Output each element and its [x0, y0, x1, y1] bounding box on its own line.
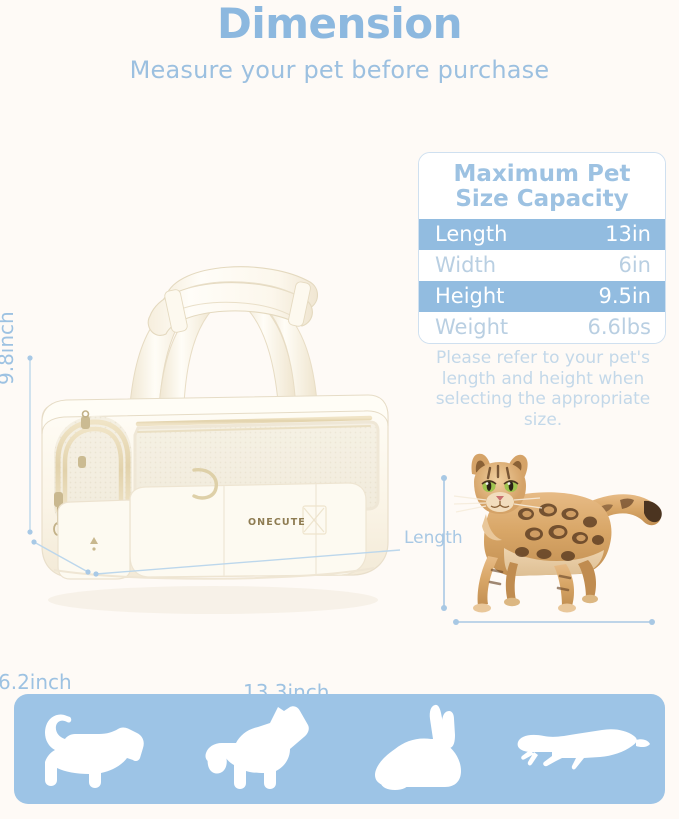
lizard-silhouette-icon	[514, 714, 654, 784]
bengal-cat-image	[430, 440, 670, 625]
table-row-width: Width 6in	[419, 250, 665, 281]
spec-title-line-1: Maximum Pet	[425, 162, 659, 187]
spec-title-line-2: Size Capacity	[425, 187, 659, 212]
main-stage: ONECUTE 9.8inch 6.2inch 13.3inch Maximum…	[0, 110, 679, 685]
page-subtitle: Measure your pet before purchase	[0, 56, 679, 84]
table-row-height: Height 9.5in	[419, 281, 665, 312]
bag-brand-label: ONECUTE	[248, 517, 306, 528]
row-label: Height	[435, 284, 504, 308]
pet-carrier-bag-image: ONECUTE	[18, 170, 408, 640]
row-label: Length	[435, 222, 507, 246]
bag-depth-dimension-label: 6.2inch	[0, 670, 72, 694]
supported-pets-banner	[14, 694, 665, 804]
animal-slot-lizard	[509, 714, 659, 784]
cat-silhouette-icon	[29, 706, 161, 792]
max-pet-size-capacity-table: Maximum Pet Size Capacity Length 13in Wi…	[418, 152, 666, 344]
cat-length-label: Length	[404, 528, 463, 548]
bag-height-dimension-label: 9.8inch	[0, 311, 18, 385]
spec-table-title: Maximum Pet Size Capacity	[419, 153, 665, 219]
row-label: Weight	[435, 315, 508, 339]
row-value: 9.5in	[598, 284, 651, 308]
rabbit-silhouette-icon	[361, 703, 481, 795]
header: Dimension Measure your pet before purcha…	[0, 0, 679, 84]
row-value: 13in	[605, 222, 651, 246]
animal-slot-rabbit	[346, 703, 496, 795]
animal-slot-dog	[183, 703, 333, 795]
page-title: Dimension	[0, 2, 679, 46]
zipper-pull-door	[78, 456, 86, 468]
spec-table-note: Please refer to your pet's length and he…	[418, 348, 668, 431]
dog-silhouette-icon	[192, 703, 324, 795]
table-row-length: Length 13in	[419, 219, 665, 250]
row-label: Width	[435, 253, 496, 277]
row-value: 6in	[618, 253, 651, 277]
animal-slot-cat	[20, 706, 170, 792]
row-value: 6.6lbs	[587, 315, 651, 339]
table-row-weight: Weight 6.6lbs	[419, 312, 665, 343]
